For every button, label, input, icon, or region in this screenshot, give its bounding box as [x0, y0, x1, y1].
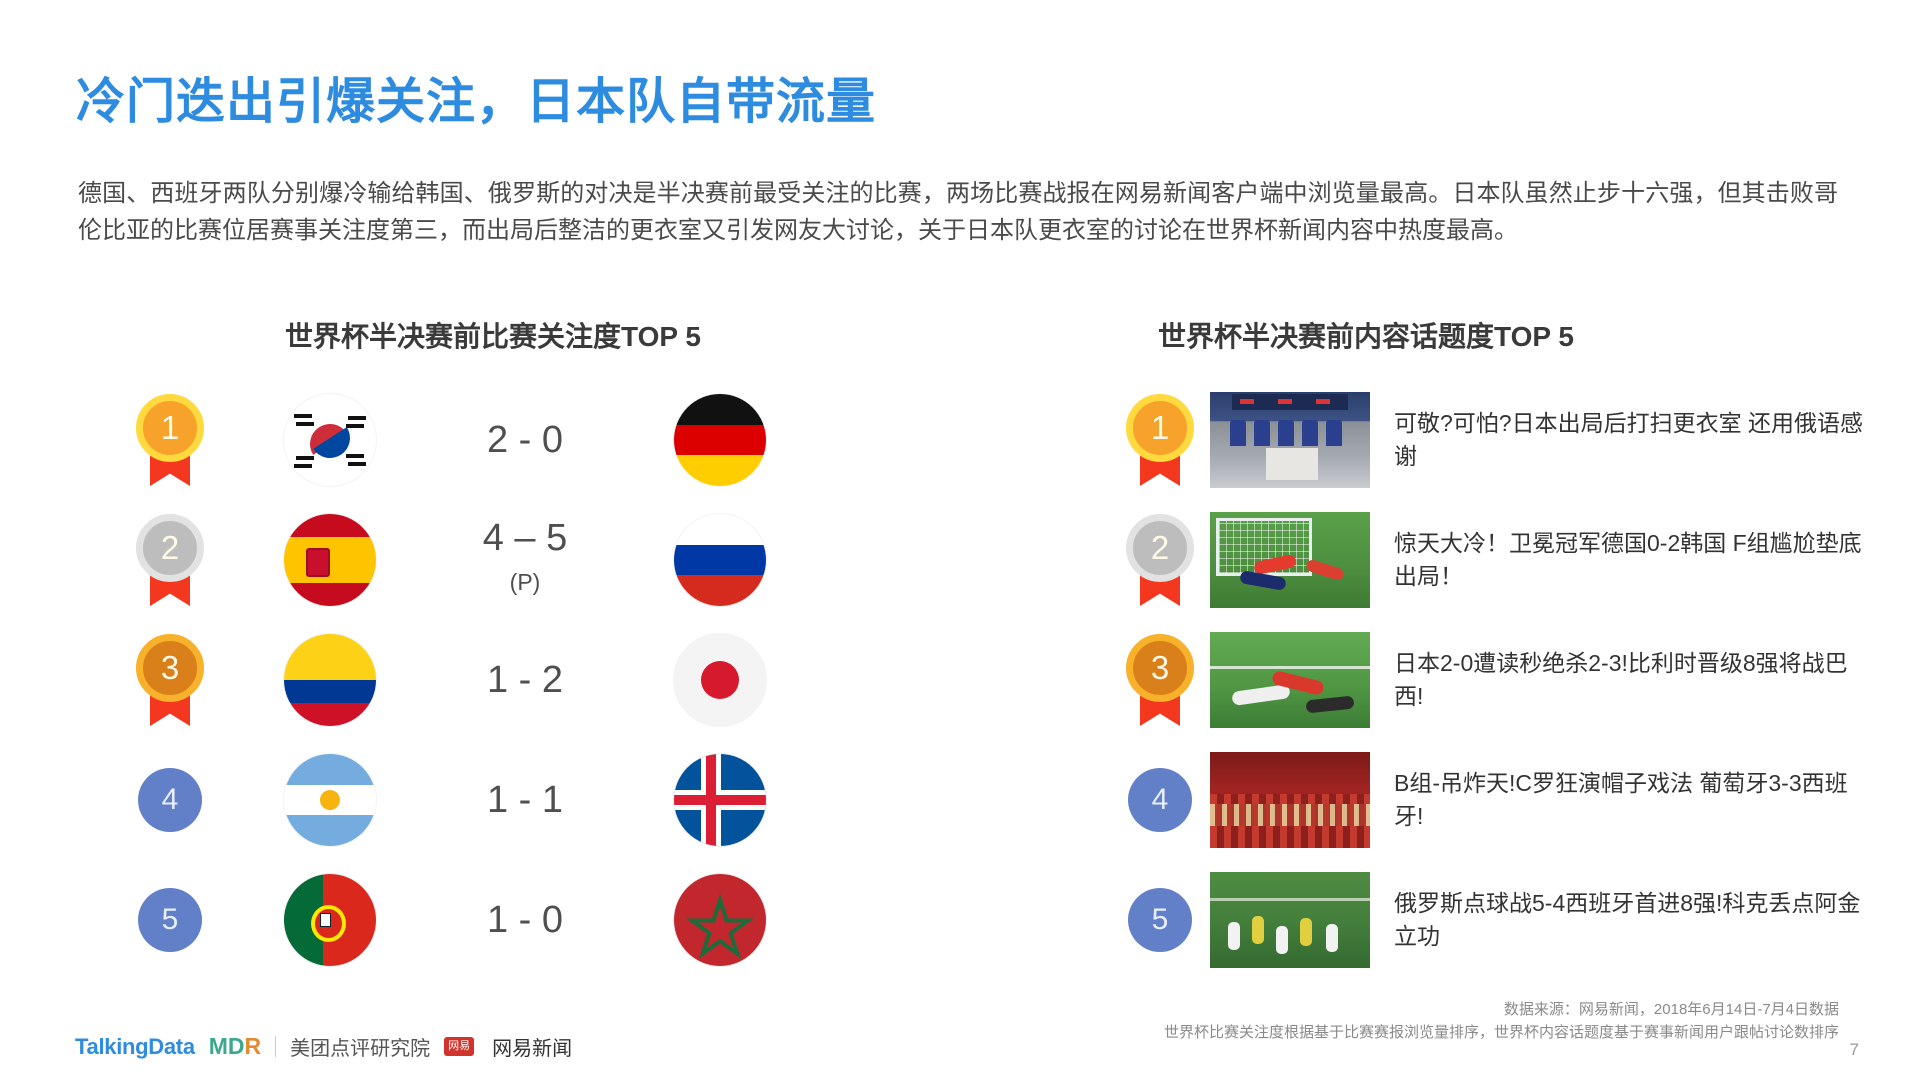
medal-rank-label: 1	[1126, 394, 1194, 462]
page-number: 7	[1850, 1040, 1859, 1060]
rank-cell: 4	[1110, 768, 1210, 832]
match-score: 1 - 2	[430, 659, 620, 701]
rank-cell: 5	[110, 888, 230, 952]
bronze-medal-icon: 3	[136, 634, 204, 726]
match-row: 3 1 - 2	[110, 620, 900, 740]
team-a-cell	[230, 394, 430, 486]
gold-medal-icon: 1	[136, 394, 204, 486]
match-score: 1 - 1	[430, 779, 620, 821]
medal-rank-label: 1	[136, 394, 204, 462]
team-b-cell	[620, 754, 820, 846]
rank-cell: 2	[110, 514, 230, 606]
penalty-note: (P)	[430, 561, 620, 603]
footer-logos: TalkingData MDR 美团点评研究院 网易 网易新闻	[75, 1032, 572, 1061]
logo-divider	[275, 1036, 276, 1057]
score-text: 2 - 0	[487, 419, 563, 461]
colombia-flag-icon	[284, 634, 376, 726]
news-row[interactable]: 1 可敬?可怕?日本出局后打扫更衣室 还用俄语感谢	[1110, 380, 1870, 500]
germany-flag-icon	[674, 394, 766, 486]
news-thumbnail[interactable]	[1210, 392, 1370, 488]
score-text: 1 - 2	[487, 659, 563, 701]
team-a-cell	[230, 874, 430, 966]
team-a-cell	[230, 634, 430, 726]
argentina-flag-icon	[284, 754, 376, 846]
rank-badge-5: 5	[138, 888, 202, 952]
bronze-medal-icon: 3	[1126, 634, 1194, 726]
news-title[interactable]: B组-吊炸天!C罗狂演帽子戏法 葡萄牙3-3西班牙!	[1394, 767, 1864, 833]
mdr-logo-m: MD	[209, 1033, 245, 1059]
team-a-cell	[230, 754, 430, 846]
iceland-flag-icon	[674, 754, 766, 846]
team-a-cell	[230, 514, 430, 606]
team-b-cell	[620, 874, 820, 966]
netease-news-label: 网易新闻	[492, 1032, 572, 1061]
rank-cell: 1	[110, 394, 230, 486]
match-score: 4 – 5 (P)	[430, 517, 620, 603]
rank-badge-5: 5	[1128, 888, 1192, 952]
news-title[interactable]: 惊天大冷！卫冕冠军德国0-2韩国 F组尴尬垫底出局！	[1394, 527, 1864, 593]
news-row[interactable]: 2 惊天大冷！卫冕冠军德国0-2韩国 F组尴尬垫底出局！	[1110, 500, 1870, 620]
right-panel-heading: 世界杯半决赛前内容话题度TOP 5	[1158, 315, 1574, 355]
mdr-logo: MDR	[209, 1033, 261, 1060]
match-row: 4 1 - 1	[110, 740, 900, 860]
morocco-flag-icon	[674, 874, 766, 966]
korea-flag-icon	[284, 394, 376, 486]
match-row: 2 4 – 5 (P)	[110, 500, 900, 620]
spain-flag-icon	[284, 514, 376, 606]
japan-flag-icon	[674, 634, 766, 726]
rank-cell: 2	[1110, 514, 1210, 606]
news-thumbnail[interactable]	[1210, 512, 1370, 608]
score-text: 1 - 0	[487, 899, 563, 941]
rank-cell: 3	[1110, 634, 1210, 726]
rank-cell: 5	[1110, 888, 1210, 952]
netease-mark-icon: 网易	[444, 1037, 474, 1056]
match-attention-list: 1 2 - 0	[110, 380, 900, 980]
intro-paragraph: 德国、西班牙两队分别爆冷输给韩国、俄罗斯的对决是半决赛前最受关注的比赛，两场比赛…	[78, 175, 1838, 249]
medal-rank-label: 3	[1126, 634, 1194, 702]
russia-flag-icon	[674, 514, 766, 606]
match-row: 5 1 - 0	[110, 860, 900, 980]
mdr-logo-r: R	[245, 1033, 262, 1059]
score-text: 4 – 5	[483, 517, 568, 559]
silver-medal-icon: 2	[136, 514, 204, 606]
medal-rank-label: 2	[1126, 514, 1194, 582]
score-text: 1 - 1	[487, 779, 563, 821]
page-title: 冷门迭出引爆关注，日本队自带流量	[76, 62, 876, 133]
meituan-research-label: 美团点评研究院	[290, 1032, 430, 1061]
content-topic-list: 1 可敬?可怕?日本出局后打扫更衣室 还用俄语感谢 2	[1110, 380, 1870, 980]
source-line-2: 世界杯比赛关注度根据基于比赛赛报浏览量排序，世界杯内容话题度基于赛事新闻用户跟帖…	[1164, 1021, 1839, 1044]
team-b-cell	[620, 394, 820, 486]
news-row[interactable]: 3 日本2-0遭读秒绝杀2-3!比利时晋级8强将战巴西!	[1110, 620, 1870, 740]
news-title[interactable]: 可敬?可怕?日本出局后打扫更衣室 还用俄语感谢	[1394, 407, 1864, 473]
news-row[interactable]: 5 俄罗斯点球战5-4西班牙首进8强!科克丢点阿金立功	[1110, 860, 1870, 980]
medal-rank-label: 2	[136, 514, 204, 582]
news-thumbnail[interactable]	[1210, 752, 1370, 848]
news-title[interactable]: 日本2-0遭读秒绝杀2-3!比利时晋级8强将战巴西!	[1394, 647, 1864, 713]
source-note: 数据来源：网易新闻，2018年6月14日-7月4日数据 世界杯比赛关注度根据基于…	[1164, 998, 1839, 1044]
rank-badge-4: 4	[138, 768, 202, 832]
portugal-flag-icon	[284, 874, 376, 966]
news-row[interactable]: 4 B组-吊炸天!C罗狂演帽子戏法 葡萄牙3-3西班牙!	[1110, 740, 1870, 860]
news-thumbnail[interactable]	[1210, 632, 1370, 728]
match-score: 2 - 0	[430, 419, 620, 461]
rank-cell: 4	[110, 768, 230, 832]
gold-medal-icon: 1	[1126, 394, 1194, 486]
left-panel-heading: 世界杯半决赛前比赛关注度TOP 5	[285, 315, 701, 355]
silver-medal-icon: 2	[1126, 514, 1194, 606]
news-title[interactable]: 俄罗斯点球战5-4西班牙首进8强!科克丢点阿金立功	[1394, 887, 1864, 953]
team-b-cell	[620, 514, 820, 606]
rank-badge-4: 4	[1128, 768, 1192, 832]
news-thumbnail[interactable]	[1210, 872, 1370, 968]
talkingdata-logo: TalkingData	[75, 1034, 195, 1060]
rank-cell: 1	[1110, 394, 1210, 486]
slide-page: 冷门迭出引爆关注，日本队自带流量 德国、西班牙两队分别爆冷输给韩国、俄罗斯的对决…	[0, 0, 1921, 1080]
match-row: 1 2 - 0	[110, 380, 900, 500]
team-b-cell	[620, 634, 820, 726]
match-score: 1 - 0	[430, 899, 620, 941]
rank-cell: 3	[110, 634, 230, 726]
medal-rank-label: 3	[136, 634, 204, 702]
source-line-1: 数据来源：网易新闻，2018年6月14日-7月4日数据	[1164, 998, 1839, 1021]
